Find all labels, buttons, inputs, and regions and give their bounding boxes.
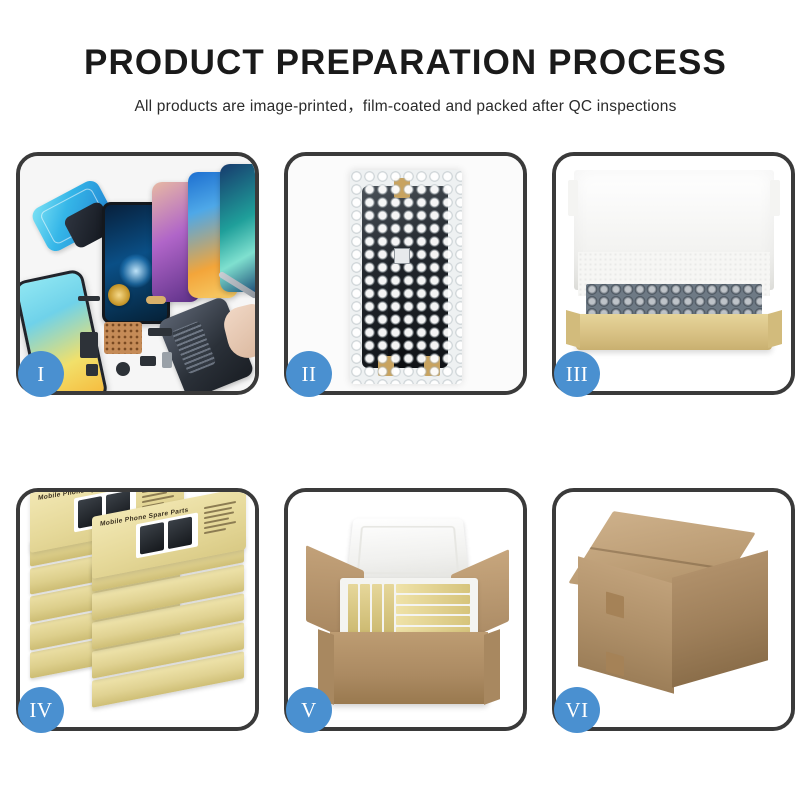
step-badge-3: III — [554, 351, 600, 397]
box-image-thumb — [168, 517, 192, 550]
box-image-thumb — [140, 522, 164, 555]
step-badge-2: II — [286, 351, 332, 397]
process-step-3[interactable]: III — [552, 152, 795, 395]
tape-tab — [378, 356, 394, 376]
box-stack: Mobile Phone Spare Parts — [26, 514, 252, 714]
inner-boxes-vertical — [348, 584, 394, 636]
process-step-6[interactable]: VI — [552, 488, 795, 731]
spare-part — [86, 364, 98, 376]
chip-array-part — [104, 322, 142, 354]
spare-part — [116, 362, 130, 376]
step-badge-6: VI — [554, 687, 600, 733]
spare-part — [80, 332, 98, 358]
step-badge-5: V — [286, 687, 332, 733]
step-badge-1: I — [18, 351, 64, 397]
process-step-grid: I II III — [16, 152, 795, 731]
header: PRODUCT PREPARATION PROCESS All products… — [0, 0, 811, 116]
tape-tab — [394, 178, 410, 198]
product-preparation-infographic: PRODUCT PREPARATION PROCESS All products… — [0, 0, 811, 811]
tape-tab — [424, 356, 440, 376]
step-badge-4: IV — [18, 687, 64, 733]
spare-part — [146, 296, 166, 304]
kraft-box-tray — [576, 314, 772, 350]
page-title: PRODUCT PREPARATION PROCESS — [0, 44, 811, 83]
process-step-2[interactable]: II — [284, 152, 527, 395]
process-step-5[interactable]: V — [284, 488, 527, 731]
page-subtitle: All products are image-printed，film-coat… — [0, 94, 811, 116]
process-step-1[interactable]: I — [16, 152, 259, 395]
connector — [394, 248, 410, 264]
process-step-4[interactable]: Mobile Phone Spare Parts — [16, 488, 259, 731]
spare-part — [140, 356, 156, 366]
spare-part — [162, 352, 172, 368]
flex-cable — [388, 260, 410, 368]
carton-body — [330, 632, 488, 704]
box-spec-lines — [204, 500, 240, 541]
inner-boxes-horizontal — [396, 584, 470, 636]
spare-part — [148, 328, 172, 336]
inner-boxes-group — [348, 584, 470, 636]
spare-part — [78, 296, 100, 301]
copper-coil-part — [108, 284, 130, 306]
wrapped-screen — [362, 186, 448, 368]
bubble-wrap-package — [350, 170, 462, 384]
bubble-wrapped-contents — [586, 284, 762, 318]
